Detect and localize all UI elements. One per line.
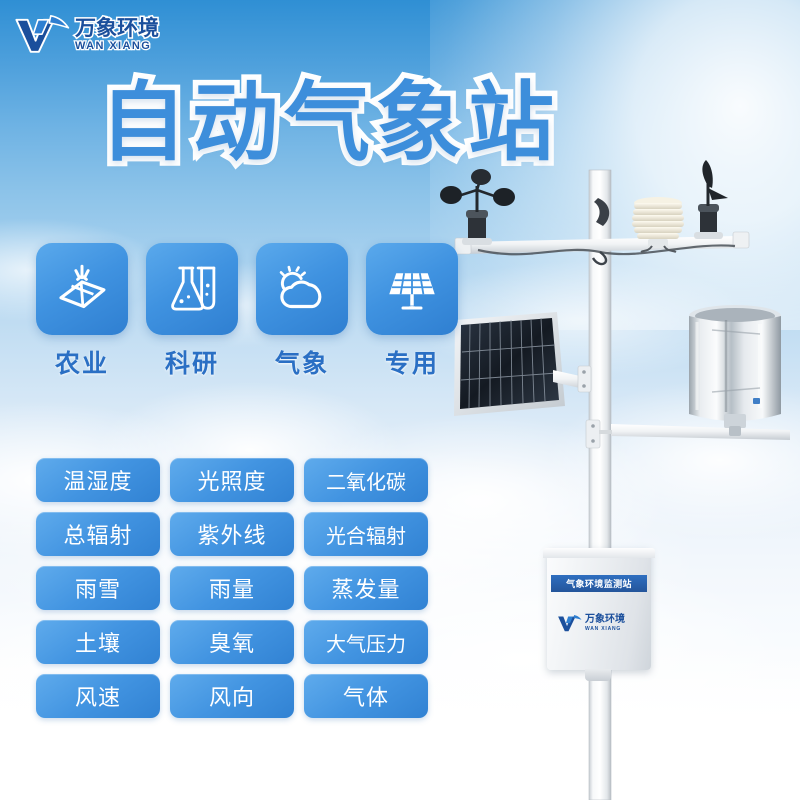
control-box-logo: 万象环境 WAN XIANG [557,614,643,633]
control-box: 气象环境监测站 万象环境 WAN XIANG [547,548,651,670]
tag-item[interactable]: 风向 [170,674,294,718]
tag-item[interactable]: 总辐射 [36,512,160,556]
category-tile [146,243,238,335]
tag-item[interactable]: 雨雪 [36,566,160,610]
tag-item[interactable]: 蒸发量 [304,566,428,610]
tag-item[interactable]: 二氧化碳 [304,458,428,502]
brand-name-en: WAN XIANG [75,41,159,52]
flask-testtube-icon [164,261,220,317]
category-tile [366,243,458,335]
tag-item[interactable]: 气体 [304,674,428,718]
tag-item[interactable]: 土壤 [36,620,160,664]
category-label: 气象 [275,344,329,380]
category-label: 农业 [55,344,109,380]
tag-item[interactable]: 紫外线 [170,512,294,556]
category-research[interactable]: 科研 [146,243,238,380]
farmland-icon [54,261,110,317]
page-title: 自动气象站 [0,52,660,177]
category-dedicated[interactable]: 专用 [366,243,458,380]
category-agriculture[interactable]: 农业 [36,243,128,380]
category-label: 专用 [385,344,439,380]
tag-item[interactable]: 雨量 [170,566,294,610]
category-row: 农业 科研 [36,243,458,380]
control-box-logo-en: WAN XIANG [585,627,625,632]
sensor-tag-grid: 温湿度 光照度 二氧化碳 总辐射 紫外线 光合辐射 雨雪 雨量 蒸发量 土壤 臭… [36,458,428,718]
category-label: 科研 [165,344,219,380]
control-box-logo-cn: 万象环境 [585,615,625,625]
tag-item[interactable]: 温湿度 [36,458,160,502]
tag-item[interactable]: 大气压力 [304,620,428,664]
tag-item[interactable]: 光照度 [170,458,294,502]
category-meteorology[interactable]: 气象 [256,243,348,380]
wanxiang-w-logo-icon [557,614,583,633]
tag-item[interactable]: 光合辐射 [304,512,428,556]
sun-cloud-icon [274,261,330,317]
tag-item[interactable]: 风速 [36,674,160,718]
brand-name-cn: 万象环境 [75,18,159,39]
solar-panel-icon [384,261,440,317]
category-tile [36,243,128,335]
control-box-banner: 气象环境监测站 [551,575,647,592]
control-box-lid [543,548,655,558]
tag-item[interactable]: 臭氧 [170,620,294,664]
wanxiang-w-logo-icon [14,15,70,55]
category-tile [256,243,348,335]
cable-gland [585,669,611,681]
poster-canvas: 气象环境监测站 万象环境 WAN XIANG 万象环境 WAN XIANG 自动… [0,0,800,800]
